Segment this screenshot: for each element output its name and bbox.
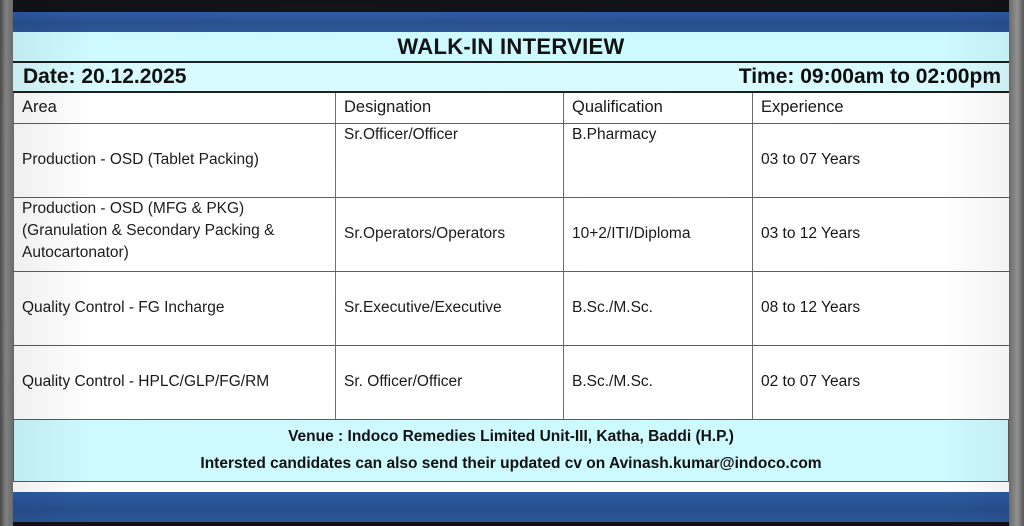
cell-experience: 03 to 12 Years xyxy=(753,197,1010,271)
cell-designation: Sr.Officer/Officer xyxy=(336,123,564,197)
cell-qualification: B.Sc./M.Sc. xyxy=(564,271,753,345)
table-row: Production - OSD (MFG & PKG) (Granulatio… xyxy=(14,197,1010,271)
cell-experience: 03 to 07 Years xyxy=(753,123,1010,197)
column-header-qualification: Qualification xyxy=(564,93,753,123)
page-left-edge xyxy=(0,0,13,526)
cell-designation: Sr.Operators/Operators xyxy=(336,197,564,271)
notice-footer: Venue : Indoco Remedies Limited Unit-III… xyxy=(13,420,1009,482)
cell-experience: 08 to 12 Years xyxy=(753,271,1010,345)
vacancy-table: Area Designation Qualification Experienc… xyxy=(13,93,1010,420)
table-header-row: Area Designation Qualification Experienc… xyxy=(14,93,1010,123)
venue-line: Venue : Indoco Remedies Limited Unit-III… xyxy=(288,428,734,446)
cell-area: Quality Control - HPLC/GLP/FG/RM xyxy=(14,345,336,419)
cell-designation: Sr. Officer/Officer xyxy=(336,345,564,419)
bottom-blue-band xyxy=(13,492,1009,522)
column-header-experience: Experience xyxy=(753,93,1010,123)
contact-line: Intersted candidates can also send their… xyxy=(200,455,821,473)
cell-experience: 02 to 07 Years xyxy=(753,345,1010,419)
top-blue-band xyxy=(13,12,1009,32)
table-row: Quality Control - FG Incharge Sr.Executi… xyxy=(14,271,1010,345)
interview-time: Time: 09:00am to 02:00pm xyxy=(739,65,1001,89)
notice-title-bar: WALK-IN INTERVIEW xyxy=(13,32,1009,63)
cell-qualification: B.Sc./M.Sc. xyxy=(564,345,753,419)
cell-qualification: 10+2/ITI/Diploma xyxy=(564,197,753,271)
table-row: Quality Control - HPLC/GLP/FG/RM Sr. Off… xyxy=(14,345,1010,419)
cell-area: Production - OSD (MFG & PKG) (Granulatio… xyxy=(14,197,336,271)
cell-area: Production - OSD (Tablet Packing) xyxy=(14,123,336,197)
date-time-bar: Date: 20.12.2025 Time: 09:00am to 02:00p… xyxy=(13,63,1009,93)
cell-designation: Sr.Executive/Executive xyxy=(336,271,564,345)
page-right-edge xyxy=(1009,0,1024,526)
column-header-designation: Designation xyxy=(336,93,564,123)
interview-date: Date: 20.12.2025 xyxy=(23,65,186,89)
page-title: WALK-IN INTERVIEW xyxy=(397,34,624,60)
walk-in-interview-poster: WALK-IN INTERVIEW Date: 20.12.2025 Time:… xyxy=(0,0,1024,526)
notice-sheet: WALK-IN INTERVIEW Date: 20.12.2025 Time:… xyxy=(13,32,1009,492)
cell-qualification: B.Pharmacy xyxy=(564,123,753,197)
table-row: Production - OSD (Tablet Packing) Sr.Off… xyxy=(14,123,1010,197)
column-header-area: Area xyxy=(14,93,336,123)
cell-area: Quality Control - FG Incharge xyxy=(14,271,336,345)
